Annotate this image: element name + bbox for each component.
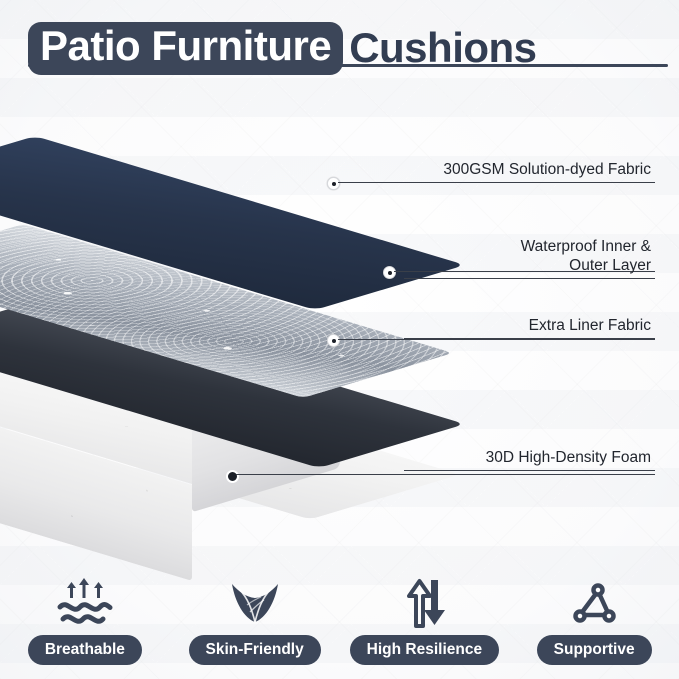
callout-high-density-foam: 30D High-Density Foam bbox=[404, 448, 655, 471]
layer-solution-dyed-fabric bbox=[0, 148, 390, 298]
marker-liner bbox=[327, 334, 340, 347]
callout-underline bbox=[404, 470, 655, 471]
feature-supportive: Supportive bbox=[514, 576, 674, 666]
feature-badge-row: Breathable Skin-Friendly bbox=[0, 560, 679, 665]
up-down-arrows-icon bbox=[400, 576, 448, 628]
callout-extra-liner-fabric: Extra Liner Fabric bbox=[404, 316, 655, 339]
callout-solution-dyed-fabric: 300GSM Solution-dyed Fabric bbox=[404, 160, 655, 183]
airflow-waves-icon bbox=[57, 576, 113, 628]
feather-icon bbox=[228, 576, 282, 628]
feature-high-resilience: High Resilience bbox=[344, 576, 504, 666]
callout-label: Waterproof Inner & Outer Layer bbox=[404, 237, 655, 278]
callout-label: 300GSM Solution-dyed Fabric bbox=[404, 160, 655, 182]
feature-label[interactable]: High Resilience bbox=[350, 635, 499, 666]
fabric-top-face bbox=[0, 136, 465, 310]
leader-line-foam bbox=[236, 474, 655, 475]
callout-underline bbox=[404, 182, 655, 183]
feature-label[interactable]: Breathable bbox=[28, 635, 142, 666]
triangle-nodes-icon bbox=[568, 576, 620, 628]
header-divider bbox=[28, 64, 668, 67]
callout-label: 30D High-Density Foam bbox=[404, 448, 655, 470]
product-layer-stack bbox=[0, 140, 440, 550]
marker-waterproof bbox=[383, 266, 396, 279]
marker-fabric bbox=[327, 177, 340, 190]
feature-label[interactable]: Supportive bbox=[537, 635, 652, 666]
header: Patio Furniture Cushions bbox=[0, 22, 679, 84]
marker-foam bbox=[226, 470, 239, 483]
leader-line-liner bbox=[338, 339, 655, 340]
callout-underline bbox=[404, 278, 655, 279]
infographic-canvas: Patio Furniture Cushions bbox=[0, 0, 679, 679]
callout-underline bbox=[404, 338, 655, 339]
feature-breathable: Breathable bbox=[5, 576, 165, 666]
callout-waterproof-layer: Waterproof Inner & Outer Layer bbox=[404, 237, 655, 279]
callout-label: Extra Liner Fabric bbox=[404, 316, 655, 338]
feature-label[interactable]: Skin-Friendly bbox=[189, 635, 321, 666]
feature-skin-friendly: Skin-Friendly bbox=[175, 576, 335, 666]
